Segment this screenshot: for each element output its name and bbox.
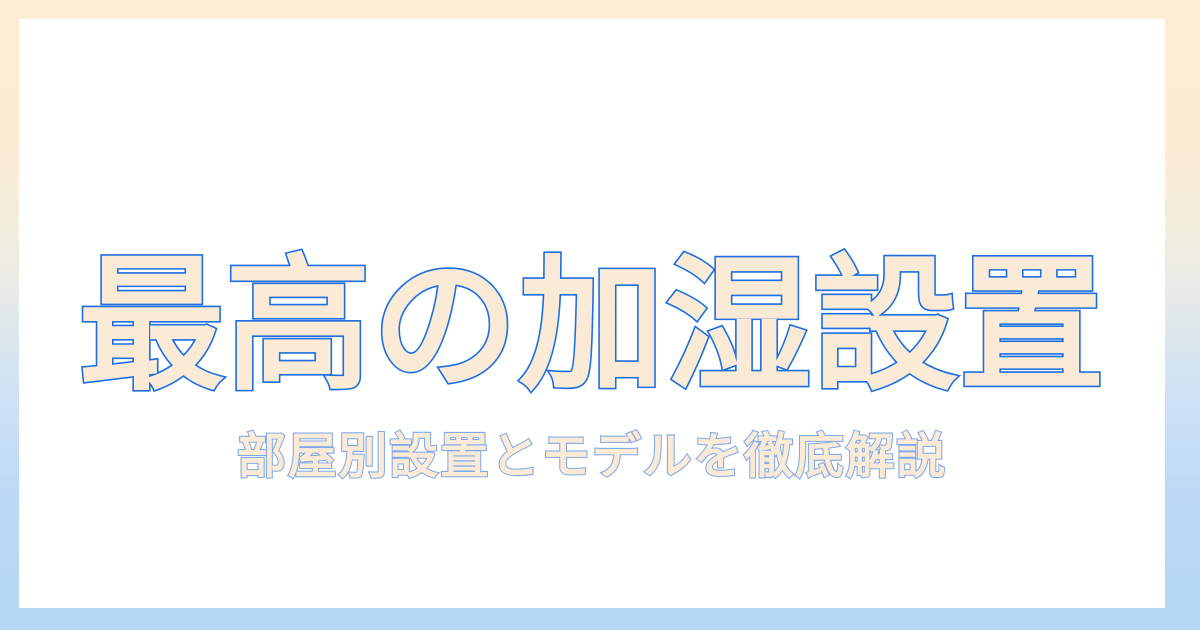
page-title: 最高の加湿設置 (78, 245, 1105, 409)
ogp-banner: 最高の加湿設置 部屋別設置とモデルを徹底解説 (0, 0, 1200, 630)
white-content-card: 最高の加湿設置 部屋別設置とモデルを徹底解説 (19, 19, 1165, 608)
page-subtitle: 部屋別設置とモデルを徹底解説 (237, 428, 947, 487)
subtitle-container: 部屋別設置とモデルを徹底解説 (19, 387, 1165, 527)
